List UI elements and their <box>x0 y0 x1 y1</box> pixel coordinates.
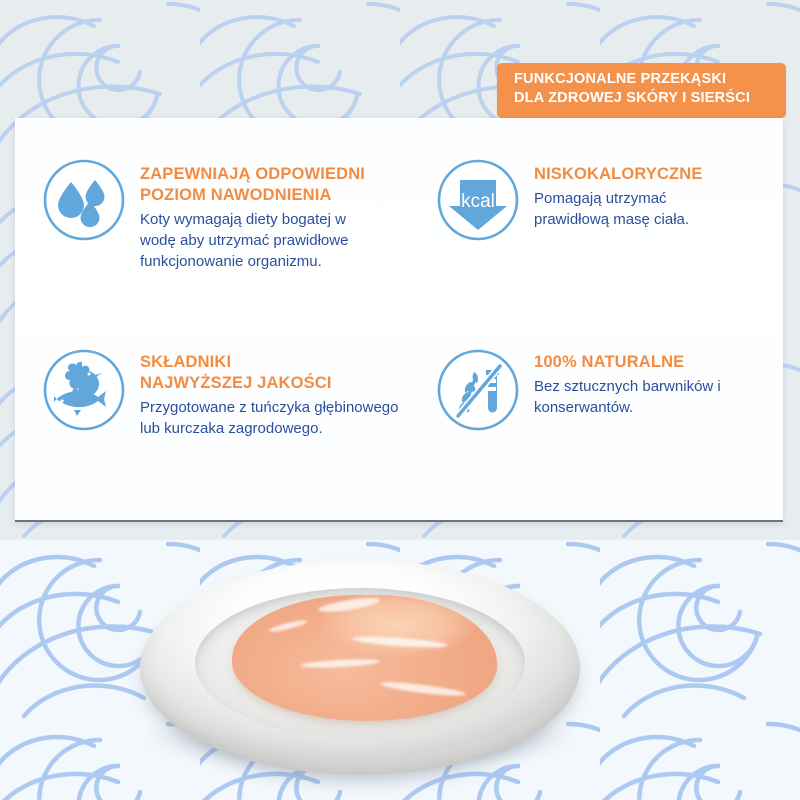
feature-quality-ingredients: SKŁADNIKI NAJWYŻSZEJ JAKOŚCI Przygotowan… <box>15 348 419 538</box>
pate-mound <box>232 595 497 721</box>
banner-line-1: FUNKCJONALNE PRZEKĄSKI <box>514 70 772 89</box>
feature-text: 100% NATURALNE Bez sztucznych barwników … <box>534 348 721 418</box>
feature-title: NISKOKALORYCZNE <box>534 164 702 185</box>
feature-natural: 100% NATURALNE Bez sztucznych barwników … <box>419 348 783 538</box>
feature-text: ZAPEWNIAJĄ ODPOWIEDNI POZIOM NAWODNIENIA… <box>140 158 365 272</box>
feature-title: SKŁADNIKI NAJWYŻSZEJ JAKOŚCI <box>140 352 399 394</box>
feature-title: ZAPEWNIAJĄ ODPOWIEDNI POZIOM NAWODNIENIA <box>140 164 365 206</box>
feature-body: Przygotowane z tuńczyka głębinowego lub … <box>140 397 399 439</box>
feature-title: 100% NATURALNE <box>534 352 721 373</box>
functional-snacks-banner: FUNKCJONALNE PRZEKĄSKI DLA ZDROWEJ SKÓRY… <box>497 63 786 118</box>
feature-text: SKŁADNIKI NAJWYŻSZEJ JAKOŚCI Przygotowan… <box>140 348 399 439</box>
product-photo <box>0 540 800 800</box>
no-additives-wheat-test-tube-icon <box>436 348 520 432</box>
feature-hydration: ZAPEWNIAJĄ ODPOWIEDNI POZIOM NAWODNIENIA… <box>15 158 419 348</box>
feature-low-calorie: kcal NISKOKALORYCZNE Pomagają utrzymać p… <box>419 158 783 348</box>
banner-line-2: DLA ZDROWEJ SKÓRY I SIERŚCI <box>514 89 772 108</box>
benefits-grid: ZAPEWNIAJĄ ODPOWIEDNI POZIOM NAWODNIENIA… <box>15 118 783 520</box>
feature-body: Bez sztucznych barwników i konserwantów. <box>534 376 721 418</box>
rooster-and-tuna-icon <box>42 348 126 432</box>
feature-body: Koty wymagają diety bogatej w wodę aby u… <box>140 209 365 272</box>
svg-text:kcal: kcal <box>461 191 495 212</box>
feature-text: NISKOKALORYCZNE Pomagają utrzymać prawid… <box>534 158 702 230</box>
feature-body: Pomagają utrzymać prawidłową masę ciała. <box>534 188 702 230</box>
kcal-down-arrow-icon: kcal <box>436 158 520 242</box>
water-drops-icon <box>42 158 126 242</box>
benefits-card: ZAPEWNIAJĄ ODPOWIEDNI POZIOM NAWODNIENIA… <box>15 118 783 522</box>
